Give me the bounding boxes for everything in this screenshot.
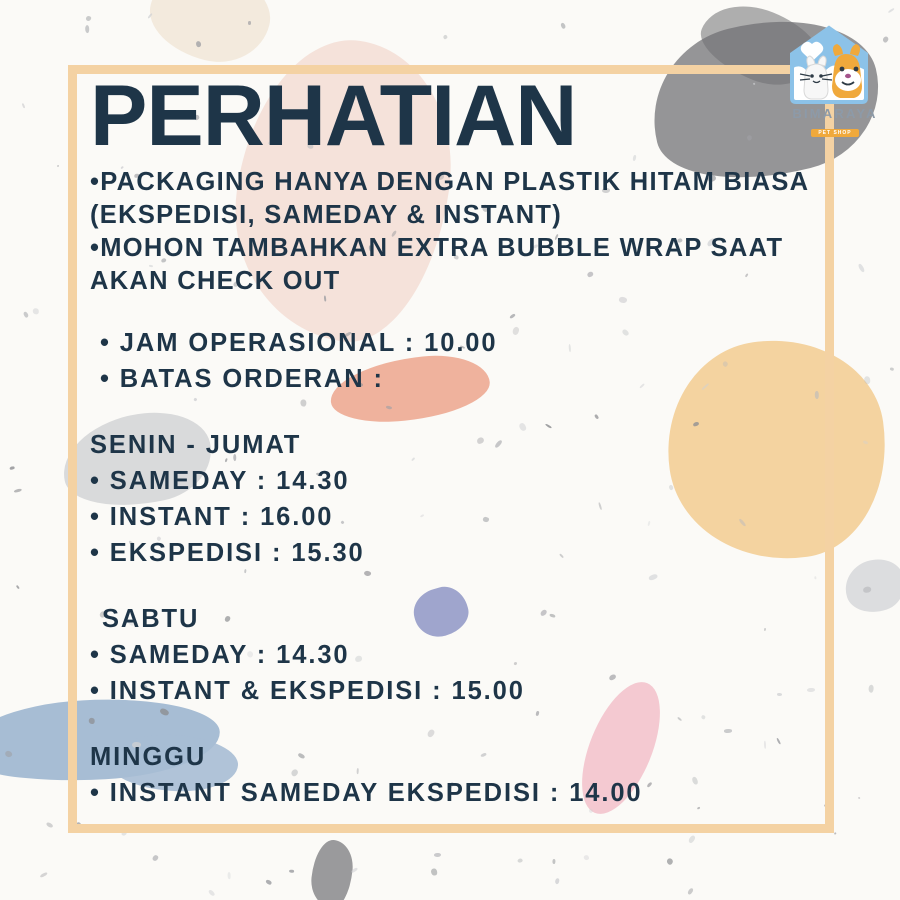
speckle — [863, 587, 872, 593]
schedule-day-0: SENIN - JUMAT — [90, 428, 830, 464]
speckle — [265, 879, 272, 885]
hours-batas-orderan: • BATAS ORDERAN : — [90, 362, 830, 398]
speckle — [4, 750, 13, 759]
speckle — [560, 22, 567, 29]
speckle — [248, 21, 251, 25]
spacer — [90, 298, 830, 326]
speckle — [85, 25, 89, 33]
speckle — [554, 878, 560, 885]
spacer — [90, 710, 830, 740]
speckle — [40, 872, 48, 878]
speckle — [516, 858, 522, 864]
page-title: PERHATIAN — [90, 76, 830, 158]
schedule-0-item-0: • SAMEDAY : 14.30 — [90, 464, 830, 500]
speckle — [16, 584, 20, 588]
schedule-2-item-0: • INSTANT SAMEDAY EKSPEDISI : 14.00 — [90, 776, 830, 812]
speckle — [14, 489, 22, 494]
speckle — [888, 8, 895, 14]
speckle — [434, 853, 441, 857]
speckle — [33, 308, 39, 314]
speckle — [57, 165, 59, 168]
spacer — [90, 572, 830, 602]
speckle — [863, 440, 869, 445]
speckle — [195, 40, 202, 48]
speckle — [858, 263, 865, 273]
speckle — [290, 870, 295, 873]
speckle — [152, 854, 159, 861]
speckle — [86, 16, 92, 22]
speckle — [552, 858, 556, 864]
speckle — [583, 854, 589, 860]
speckle — [889, 367, 894, 371]
note-bullet-bubblewrap: •MOHON TAMBAHKAN EXTRA BUBBLE WRAP SAAT … — [90, 232, 830, 298]
grey-blob-right — [838, 552, 900, 620]
poster-canvas: BIMARAYA PET SHOP PERHATIAN •PACKAGING H… — [0, 0, 900, 900]
grey-blob-bottom — [309, 838, 356, 900]
spacer — [90, 398, 830, 428]
speckle — [23, 312, 29, 319]
speckle — [665, 857, 673, 865]
note-bullet-packaging: •PACKAGING HANYA DENGAN PLASTIK HITAM BI… — [90, 166, 830, 232]
speckle — [147, 13, 152, 19]
speckle — [351, 868, 358, 874]
speckle — [687, 887, 695, 895]
speckle — [207, 889, 215, 897]
speckle — [228, 872, 231, 879]
schedule-day-1: SABTU — [90, 602, 830, 638]
speckle — [834, 833, 837, 835]
poster-content: PERHATIAN •PACKAGING HANYA DENGAN PLASTI… — [90, 76, 830, 812]
cream-blob-top-left — [141, 0, 279, 73]
schedule-day-2: MINGGU — [90, 740, 830, 776]
speckle — [10, 467, 15, 470]
speckle — [22, 103, 26, 109]
schedule-1-item-1: • INSTANT & EKSPEDISI : 15.00 — [90, 674, 830, 710]
speckle — [857, 797, 860, 800]
speckle — [431, 868, 437, 875]
schedule-0-item-1: • INSTANT : 16.00 — [90, 500, 830, 536]
speckle — [868, 684, 874, 693]
schedule-0-item-2: • EKSPEDISI : 15.30 — [90, 536, 830, 572]
speckle — [442, 34, 448, 40]
speckle — [46, 821, 54, 828]
schedule-1-item-0: • SAMEDAY : 14.30 — [90, 638, 830, 674]
hours-operasional: • JAM OPERASIONAL : 10.00 — [90, 326, 830, 362]
speckle — [864, 376, 871, 384]
speckle — [687, 835, 696, 844]
